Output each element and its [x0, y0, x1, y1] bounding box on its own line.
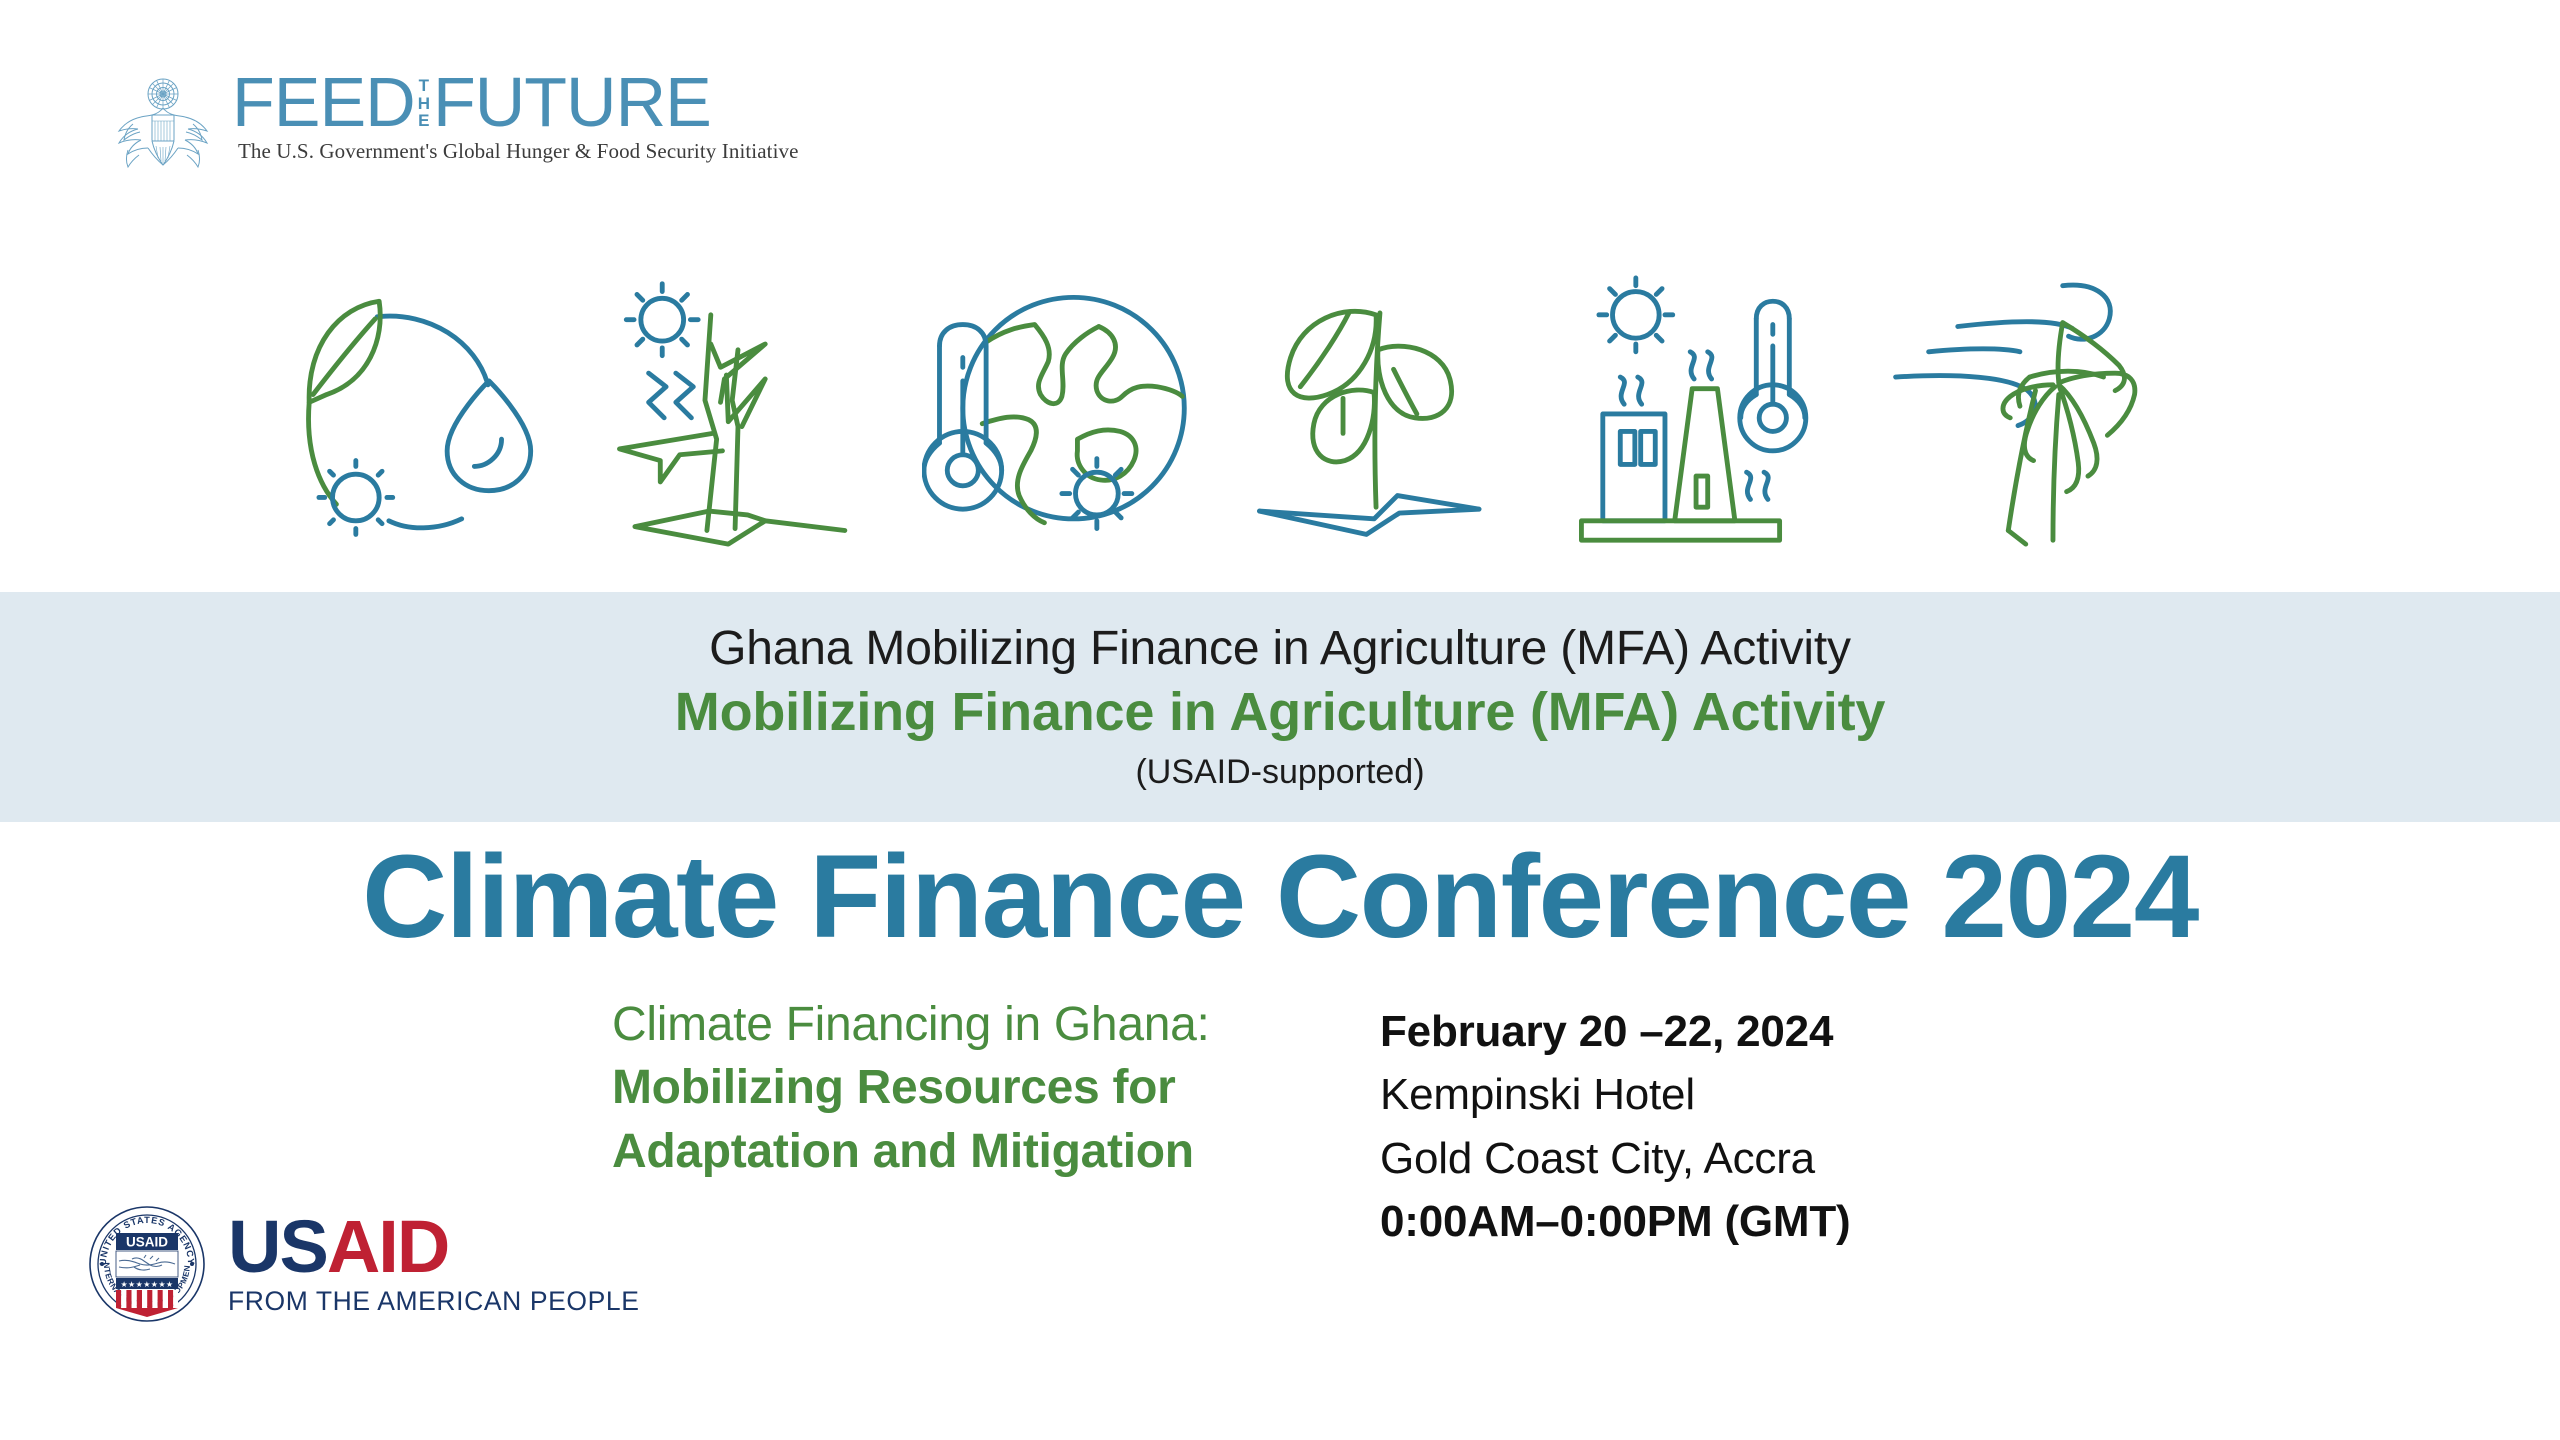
us-great-seal-eagle-icon	[108, 68, 218, 178]
svg-text:★★★★★★★: ★★★★★★★	[120, 1280, 173, 1289]
ftf-word-the: T H E	[418, 74, 430, 130]
ftf-word-future: FUTURE	[433, 72, 711, 132]
event-details: February 20 –22, 2024 Kempinski Hotel Go…	[1380, 990, 1851, 1253]
ftf-word-feed: FEED	[232, 72, 415, 132]
page-title: Climate Finance Conference 2024	[0, 838, 2560, 956]
theme-line-2: Adaptation and Mitigation	[612, 1120, 1352, 1183]
wind-storm-palm-tree-icon	[1882, 272, 2154, 552]
usaid-seal-badge-text: USAID	[126, 1235, 168, 1250]
event-venue: Kempinski Hotel	[1380, 1063, 1851, 1126]
feed-the-future-wordmark: FEED T H E FUTURE The U.S. Government's …	[232, 72, 799, 164]
event-location: Gold Coast City, Accra	[1380, 1127, 1851, 1190]
usaid-seal-icon: UNITED STATES AGENCY INTERNATIONAL DEVEL…	[88, 1205, 206, 1323]
feed-the-future-logo: FEED T H E FUTURE The U.S. Government's …	[108, 68, 799, 178]
ftf-the-t: T	[419, 77, 429, 95]
ftf-tagline: The U.S. Government's Global Hunger & Fo…	[238, 139, 799, 164]
seedling-growth-icon	[1242, 272, 1514, 552]
usaid-word-group: USAID	[228, 1211, 640, 1282]
climate-icon-strip	[0, 262, 2560, 562]
leaf-water-drop-sun-cycle-icon	[282, 272, 554, 552]
drought-wilting-plant-sun-icon	[602, 272, 874, 552]
activity-banner: Ghana Mobilizing Finance in Agriculture …	[0, 592, 2560, 822]
activity-banner-line-1: Ghana Mobilizing Finance in Agriculture …	[709, 622, 1851, 676]
usaid-logo: UNITED STATES AGENCY INTERNATIONAL DEVEL…	[88, 1205, 640, 1323]
usaid-wordmark: USAID FROM THE AMERICAN PEOPLE	[228, 1211, 640, 1316]
activity-banner-line-2: Mobilizing Finance in Agriculture (MFA) …	[675, 682, 1885, 744]
usaid-word-aid: AID	[327, 1205, 448, 1288]
event-dates: February 20 –22, 2024	[1380, 1000, 1851, 1063]
globe-thermometer-warming-icon	[922, 272, 1194, 552]
event-time: 0:00AM–0:00PM (GMT)	[1380, 1190, 1851, 1253]
usaid-word-us: US	[228, 1205, 327, 1288]
theme-line-1: Mobilizing Resources for	[612, 1056, 1352, 1119]
usaid-tagline: FROM THE AMERICAN PEOPLE	[228, 1286, 640, 1317]
factory-emissions-thermometer-icon	[1562, 272, 1834, 552]
conference-theme: Climate Financing in Ghana: Mobilizing R…	[612, 990, 1352, 1183]
ftf-the-h: H	[418, 95, 430, 113]
activity-banner-line-3: (USAID-supported)	[1135, 753, 1424, 792]
ftf-the-e: E	[418, 112, 429, 130]
theme-kicker: Climate Financing in Ghana:	[612, 994, 1352, 1056]
